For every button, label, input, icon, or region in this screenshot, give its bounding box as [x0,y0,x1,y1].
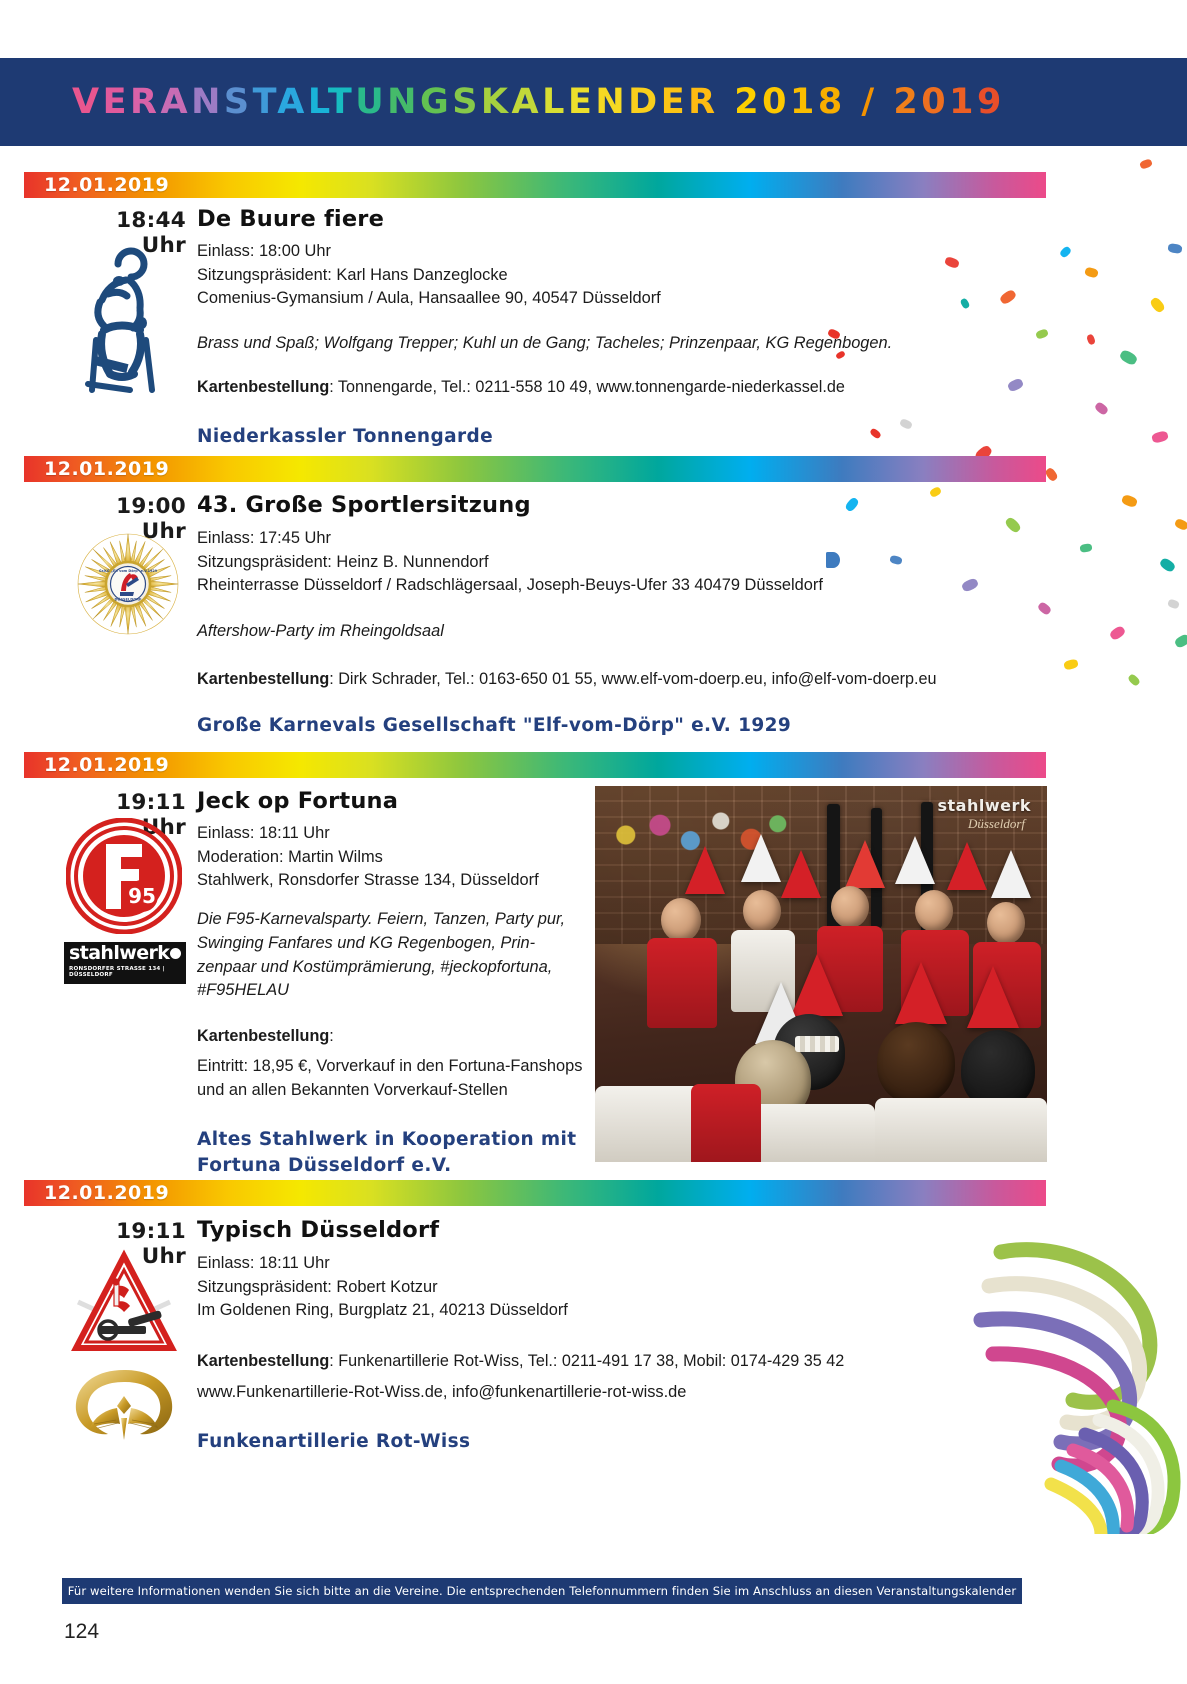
confetti-piece [959,297,970,309]
event-organizer: Fortuna Düsseldorf e.V. [197,1154,452,1179]
title-char: N [191,82,224,122]
title-char: V [72,82,103,122]
svg-text:95: 95 [128,884,156,908]
ticket-order-info: Kartenbestellung: Dirk Schrader, Tel.: 0… [197,670,937,689]
title-char: T [253,82,278,122]
event-detail-line: Moderation: Martin Wilms [197,846,383,868]
fortuna-f95-icon: 95 [66,818,182,934]
event-title: Jeck op Fortuna [197,788,398,814]
confetti-piece [1174,633,1187,649]
event-detail-line: Comenius-Gymansium / Aula, Hansaallee 90… [197,287,661,309]
confetti-piece [889,555,903,566]
page-number: 124 [64,1620,99,1644]
title-char: E [568,82,595,122]
page-header: VERANSTALTUNGSKALENDER 2018 / 2019 [0,58,1187,146]
event-program-note: Die F95-Karnevalsparty. Feiern, Tanzen, … [197,908,579,1003]
svg-text:DÜSSELDORF: DÜSSELDORF [115,597,142,602]
title-char: 1 [790,82,818,122]
confetti-piece [1007,377,1025,392]
event-detail-line: Einlass: 18:11 Uhr [197,822,330,844]
title-char [719,82,735,122]
confetti-piece [1118,348,1138,366]
date-bar-4: 12.01.2019 [24,1180,1046,1206]
confetti-piece [844,496,860,513]
title-char: 9 [977,82,1005,122]
carnival-party-photo: stahlwerk Düsseldorf [595,786,1047,1162]
photo-brand-label: stahlwerk [937,796,1031,815]
cannon-triangle-icon [70,1248,178,1364]
streamer-decoration [963,1234,1187,1534]
confetti-piece [1149,296,1166,314]
ticket-order-extra: www.Funkenartillerie-Rot-Wiss.de, info@f… [197,1381,686,1403]
title-char: A [160,82,191,122]
golden-eagle-icon [70,1366,178,1444]
event-detail-line: Einlass: 17:45 Uhr [197,527,331,549]
event-detail-line: Im Goldenen Ring, Burgplatz 21, 40213 Dü… [197,1299,568,1321]
event-title: 43. Große Sportlersitzung [197,492,531,518]
confetti-piece [1127,673,1141,687]
title-char: 8 [818,82,846,122]
confetti-piece [1139,158,1153,170]
stahlwerk-wordmark: stahlwerk [64,942,186,963]
confetti-piece [869,427,882,439]
event-calendar-page: VERANSTALTUNGSKALENDER 2018 / 2019 12.01… [0,0,1187,1684]
confetti-piece [1121,494,1139,509]
title-char: 2 [893,82,921,122]
confetti-piece [1108,625,1126,642]
confetti-piece [961,577,980,593]
program-note-line: #F95HELAU [197,979,579,1003]
confetti-piece [1151,430,1169,444]
title-char: N [387,82,420,122]
title-char: L [308,82,328,122]
drummer-icon [74,244,174,394]
ticket-order-info: Kartenbestellung: Tonnengarde, Tel.: 021… [197,378,845,397]
page-title: VERANSTALTUNGSKALENDER 2018 / 2019 [72,82,1005,122]
title-char: A [277,82,308,122]
confetti-piece [1063,658,1079,670]
ticket-order-label: Kartenbestellung [197,1352,329,1370]
program-note-line: Swinging Fanfares und KG Regenbogen, Pri… [197,932,579,956]
event-organizer: Große Karnevals Gesellschaft "Elf-vom-Dö… [197,714,791,739]
title-char: 0 [921,82,949,122]
confetti-piece [1044,467,1059,483]
event-program-note: Aftershow-Party im Rheingoldsaal [197,620,444,644]
event-detail-line: Sitzungspräsident: Karl Hans Danzeglocke [197,264,508,286]
confetti-piece [1167,243,1182,254]
title-char: / [861,82,877,122]
confetti-piece [1037,601,1053,616]
title-char: E [661,82,688,122]
title-char: D [628,82,661,122]
title-char: U [355,82,387,122]
confetti-piece [1059,245,1072,258]
title-char: K [481,82,512,122]
title-char: T [328,82,355,122]
svg-text:Gr.KG „Elf vom Dörp" e.V.1929: Gr.KG „Elf vom Dörp" e.V.1929 [99,569,158,573]
confetti-piece [1158,557,1176,574]
program-note-line: zenpaar und Kostümprämierung, #jeckopfor… [197,956,579,980]
confetti-piece [1035,328,1049,340]
stahlwerk-dot-icon [170,948,181,959]
event-title: De Buure fiere [197,206,384,232]
confetti-piece [1004,516,1022,534]
confetti-piece [1086,334,1096,346]
event-date: 12.01.2019 [44,1182,169,1204]
title-char: S [452,82,481,122]
stahlwerk-icon: stahlwerk RONSDORFER STRASSE 134 | DÜSSE… [64,942,186,984]
ticket-order-extra: Eintritt: 18,95 €, Vorverkauf in den For… [197,1055,582,1077]
event-detail-line: Einlass: 18:00 Uhr [197,240,331,262]
title-char: N [595,82,628,122]
ticket-order-text: : Funkenartillerie Rot-Wiss, Tel.: 0211-… [329,1352,844,1370]
title-char [846,82,862,122]
ticket-order-text: : [329,1027,334,1045]
ticket-order-label: Kartenbestellung [197,670,329,688]
ticket-order-text: : Dirk Schrader, Tel.: 0163-650 01 55, w… [329,670,936,688]
title-char: G [420,82,452,122]
confetti-piece [1167,598,1180,609]
title-char: 1 [949,82,977,122]
title-char: S [224,82,253,122]
stahlwerk-address: RONSDORFER STRASSE 134 | DÜSSELDORF [64,963,186,978]
title-char: R [130,82,160,122]
ticket-order-info: Kartenbestellung: Funkenartillerie Rot-W… [197,1352,844,1371]
ticket-order-label: Kartenbestellung [197,1027,329,1045]
event-date: 12.01.2019 [44,754,169,776]
footer-note: Für weitere Informationen wenden Sie sic… [62,1578,1022,1604]
confetti-piece [944,256,960,269]
event-date: 12.01.2019 [44,174,169,196]
ticket-order-label: Kartenbestellung [197,378,329,396]
ticket-order-extra: und an allen Bekannten Vorverkauf-Stelle… [197,1079,508,1101]
confetti-piece [1079,543,1092,553]
event-organizer: Niederkassler Tonnengarde [197,425,493,450]
title-char: 2 [734,82,762,122]
title-char: R [688,82,718,122]
confetti-piece [1094,401,1110,416]
date-bar-3: 12.01.2019 [24,752,1046,778]
event-organizer: Altes Stahlwerk in Kooperation mit [197,1128,577,1153]
title-char [878,82,894,122]
event-detail-line: Einlass: 18:11 Uhr [197,1252,330,1274]
event-detail-line: Stahlwerk, Ronsdorfer Strasse 134, Düsse… [197,869,539,891]
confetti-piece [1084,266,1099,278]
event-date: 12.01.2019 [44,458,169,480]
date-bar-1: 12.01.2019 [24,172,1046,198]
event-program-note: Brass und Spaß; Wolfgang Trepper; Kuhl u… [197,332,892,356]
event-organizer: Funkenartillerie Rot-Wiss [197,1430,470,1455]
event-detail-line: Sitzungspräsident: Robert Kotzur [197,1276,438,1298]
event-detail-line: Rheinterrasse Düsseldorf / Radschlägersa… [197,574,823,596]
confetti-piece [929,486,943,498]
event-title: Typisch Düsseldorf [197,1217,439,1243]
ticket-order-text: : Tonnengarde, Tel.: 0211-558 10 49, www… [329,378,845,396]
title-char: E [103,82,130,122]
confetti-piece [826,552,840,568]
title-char: 0 [762,82,790,122]
star-medal-icon: Gr.KG „Elf vom Dörp" e.V.1929 DÜSSELDORF [74,530,182,638]
title-char: L [542,82,568,122]
ticket-order-info: Kartenbestellung: [197,1027,334,1046]
program-note-line: Die F95-Karnevalsparty. Feiern, Tanzen, … [197,908,579,932]
title-char: A [512,82,543,122]
footer-note-text: Für weitere Informationen wenden Sie sic… [68,1584,1016,1598]
date-bar-2: 12.01.2019 [24,456,1046,482]
confetti-piece [1174,518,1187,532]
confetti-piece [899,418,913,430]
event-detail-line: Sitzungspräsident: Heinz B. Nunnendorf [197,551,489,573]
photo-script-text: Düsseldorf [968,816,1025,832]
confetti-piece [999,288,1018,305]
